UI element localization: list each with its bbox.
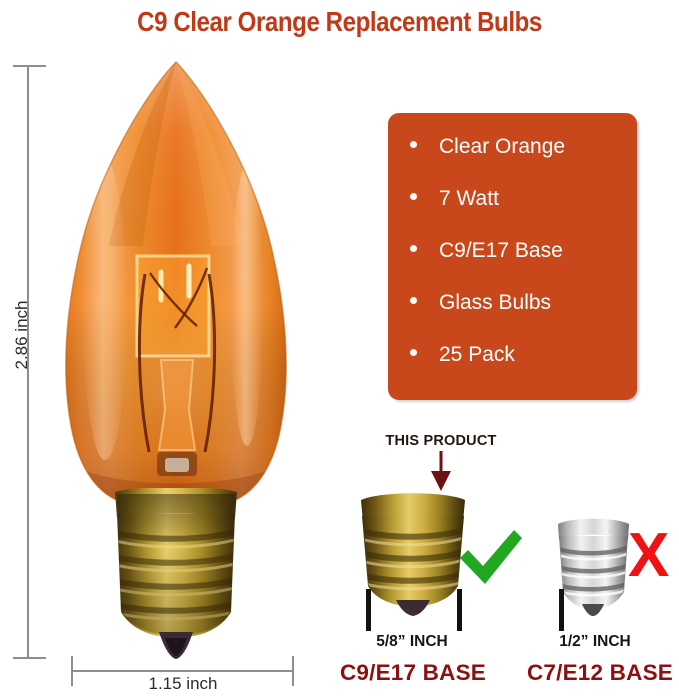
list-item: C9/E17 Base: [388, 240, 637, 261]
height-dimension-cap-top: [13, 65, 46, 67]
bulb-brass-base-icon: [111, 488, 241, 660]
measure-tick: [366, 589, 371, 631]
feature-label: C9/E17 Base: [439, 240, 563, 261]
bulb-glass-icon: [57, 60, 295, 505]
page-title: C9 Clear Orange Replacement Bulbs: [48, 6, 632, 38]
c7-inch-label: 1/2” INCH: [541, 633, 649, 651]
green-check-icon: [458, 528, 524, 586]
c9-base-label: C9/E17 BASE: [328, 660, 498, 686]
down-arrow-icon: [426, 451, 456, 491]
measure-tick: [559, 589, 564, 631]
c7-base-label: C7/E12 BASE: [520, 660, 679, 686]
bullet-icon: [410, 297, 417, 304]
bullet-icon: [410, 193, 417, 200]
height-dimension-label: 2.86 inch: [12, 280, 32, 390]
feature-label: 25 Pack: [439, 344, 515, 365]
feature-callout-box: Clear Orange 7 Watt C9/E17 Base Glass Bu…: [388, 113, 637, 400]
red-x-icon: X: [628, 525, 669, 587]
bullet-icon: [410, 245, 417, 252]
feature-label: Glass Bulbs: [439, 292, 551, 313]
list-item: Glass Bulbs: [388, 292, 637, 313]
feature-label: 7 Watt: [439, 188, 499, 209]
c7-e12-base-icon: [556, 514, 631, 616]
feature-label: Clear Orange: [439, 136, 565, 157]
width-dimension-line: [72, 670, 294, 672]
c9-inch-label: 5/8” INCH: [346, 633, 478, 651]
bullet-icon: [410, 349, 417, 356]
list-item: Clear Orange: [388, 136, 637, 157]
this-product-callout-label: THIS PRODUCT: [361, 433, 521, 449]
list-item: 25 Pack: [388, 344, 637, 365]
base-comparison-diagram: THIS PRODUCT: [310, 425, 679, 700]
c9-e17-base-icon: [358, 488, 468, 616]
measure-tick: [457, 589, 462, 631]
feature-list: Clear Orange 7 Watt C9/E17 Base Glass Bu…: [388, 113, 637, 365]
width-dimension-label: 1.15 inch: [72, 674, 294, 694]
bullet-icon: [410, 141, 417, 148]
list-item: 7 Watt: [388, 188, 637, 209]
height-dimension-cap-bottom: [13, 657, 46, 659]
product-bulb-figure: [57, 60, 295, 660]
